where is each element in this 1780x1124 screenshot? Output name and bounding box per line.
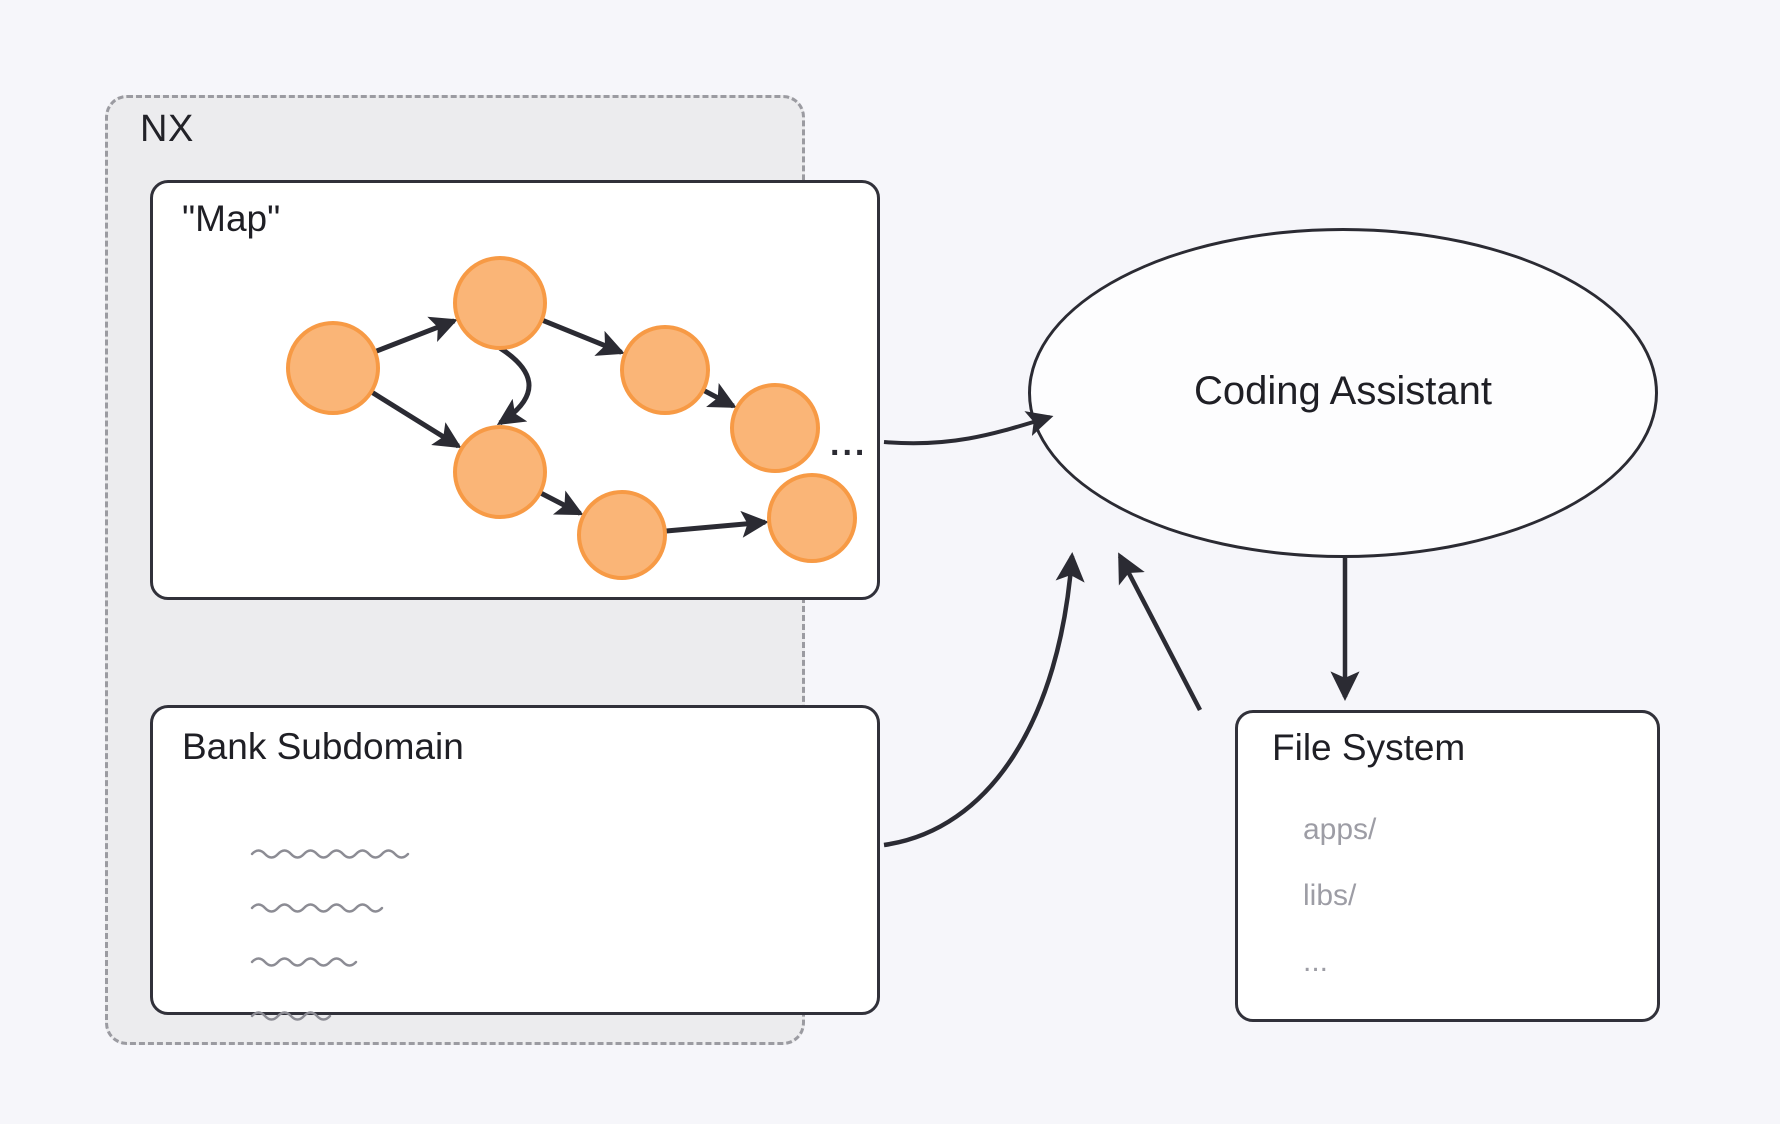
coding-assistant-label: Coding Assistant — [1031, 369, 1655, 414]
file-system-entry: libs/ — [1303, 881, 1376, 911]
map-card — [150, 180, 880, 600]
file-system-entry-list: apps/ libs/ ... — [1303, 815, 1376, 1013]
bank-subdomain-title: Bank Subdomain — [182, 726, 464, 768]
coding-assistant-ellipse: Coding Assistant — [1028, 228, 1658, 558]
file-system-title: File System — [1272, 727, 1465, 769]
diagram-canvas: NX "Map" Bank Subdomain File System apps… — [0, 0, 1780, 1124]
map-card-title: "Map" — [182, 198, 280, 240]
nx-group-label: NX — [140, 108, 194, 151]
edge-map-to-assistant — [884, 417, 1050, 443]
edge-filesystem-to-assistant — [1120, 556, 1200, 710]
file-system-entry: apps/ — [1303, 815, 1376, 845]
edge-bank-to-assistant — [884, 556, 1072, 845]
file-system-entry: ... — [1303, 947, 1376, 977]
map-graph-ellipsis: ... — [830, 425, 867, 464]
